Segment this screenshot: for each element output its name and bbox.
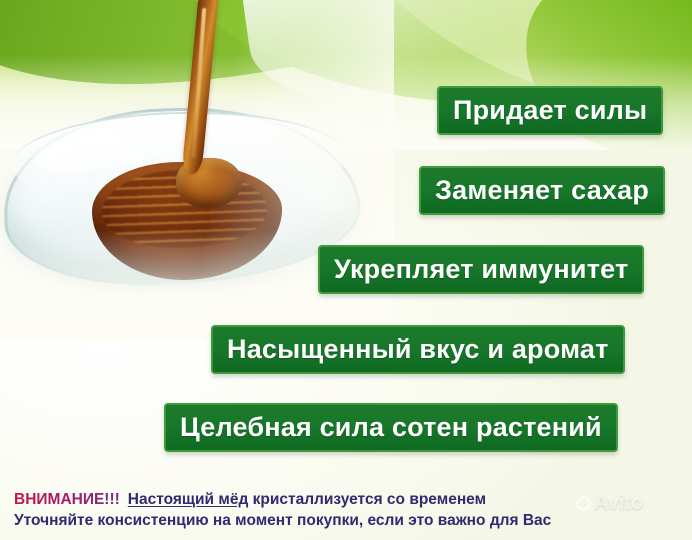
warning-line-1: ВНИМАНИЕ!!!Настоящий мёд кристаллизуется…	[14, 489, 682, 510]
benefit-banner-3-label: Укрепляет иммунитет	[334, 254, 628, 285]
warning-underlined-text: Настоящий мёд	[128, 491, 249, 508]
benefit-banner-5: Целебная сила сотен растений	[164, 403, 618, 452]
benefit-banner-4-label: Насыщенный вкус и аромат	[227, 334, 609, 365]
benefit-banner-3: Укрепляет иммунитет	[318, 245, 644, 294]
warning-line-1-rest: кристаллизуется со временем	[248, 491, 486, 508]
warning-line-2: Уточняйте консистенцию на момент покупки…	[14, 510, 682, 531]
warning-block: ВНИМАНИЕ!!!Настоящий мёд кристаллизуется…	[14, 489, 682, 531]
benefit-banner-5-label: Целебная сила сотен растений	[180, 412, 602, 443]
benefit-banner-2: Заменяет сахар	[419, 166, 665, 215]
attention-label: ВНИМАНИЕ!!!	[14, 491, 120, 508]
benefit-banner-1: Придает силы	[437, 86, 663, 135]
benefit-banner-1-label: Придает силы	[453, 95, 647, 126]
poster-canvas: Придает силы Заменяет сахар Укрепляет им…	[0, 0, 692, 540]
benefit-banner-2-label: Заменяет сахар	[435, 175, 649, 206]
benefit-banner-4: Насыщенный вкус и аромат	[211, 325, 625, 374]
